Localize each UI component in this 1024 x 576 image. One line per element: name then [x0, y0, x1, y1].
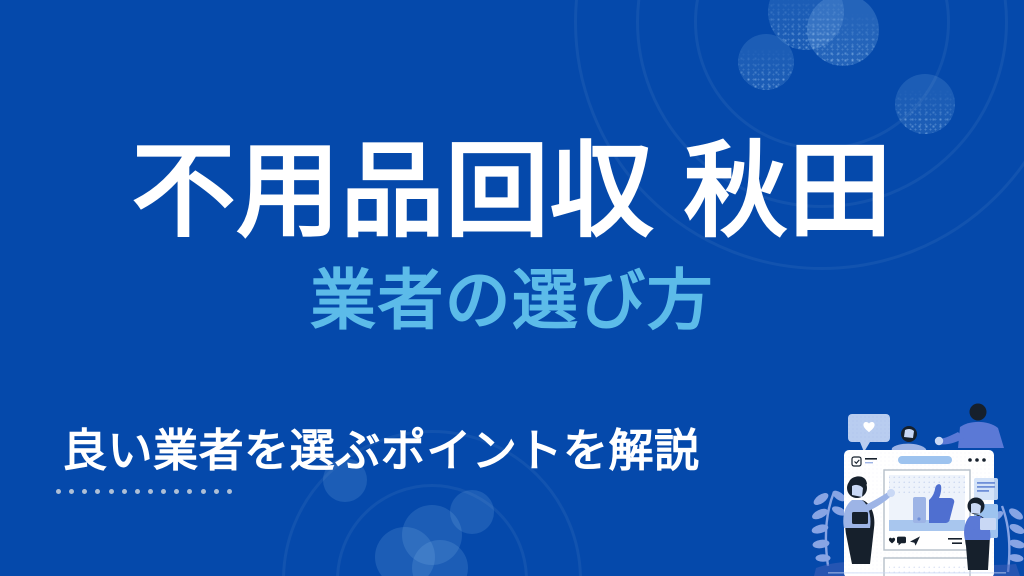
divider-dot	[148, 489, 153, 494]
divider-dot	[187, 489, 192, 494]
heart-speech-bubble	[848, 414, 890, 452]
divider-dot	[201, 489, 206, 494]
divider-dot	[69, 489, 74, 494]
divider-dot	[214, 489, 219, 494]
divider-dot	[135, 489, 140, 494]
divider-dot	[227, 489, 232, 494]
banner-canvas: 不用品回収 秋田 業者の選び方 良い業者を選ぶポイントを解説	[0, 0, 1024, 576]
social-media-engagement-illustration	[808, 396, 1024, 576]
divider-dot	[161, 489, 166, 494]
laurel-branch-left	[811, 489, 848, 566]
divider-dot	[56, 489, 61, 494]
dotted-divider	[56, 488, 232, 494]
decor-dot-circle	[768, 0, 844, 50]
page-subtitle: 業者の選び方	[0, 266, 1024, 335]
page-description: 良い業者を選ぶポイントを解説	[62, 424, 700, 478]
decor-dot-circle	[375, 527, 435, 576]
decor-dot-circle	[450, 490, 494, 534]
decor-dot-circle	[412, 540, 468, 576]
decor-dot-circle	[807, 0, 879, 66]
decor-ring	[694, 0, 950, 150]
person-top-right	[935, 404, 1004, 449]
divider-dot	[174, 489, 179, 494]
divider-dot	[82, 489, 87, 494]
decor-dot-circle	[402, 505, 462, 565]
decor-dot-circle	[738, 34, 794, 90]
page-title: 不用品回収 秋田	[0, 137, 1024, 247]
decor-dot-circle	[895, 74, 955, 134]
divider-dot	[122, 489, 127, 494]
divider-dot	[109, 489, 114, 494]
divider-dot	[95, 489, 100, 494]
decor-ring	[336, 484, 528, 576]
thumbs-up-post	[884, 470, 970, 550]
